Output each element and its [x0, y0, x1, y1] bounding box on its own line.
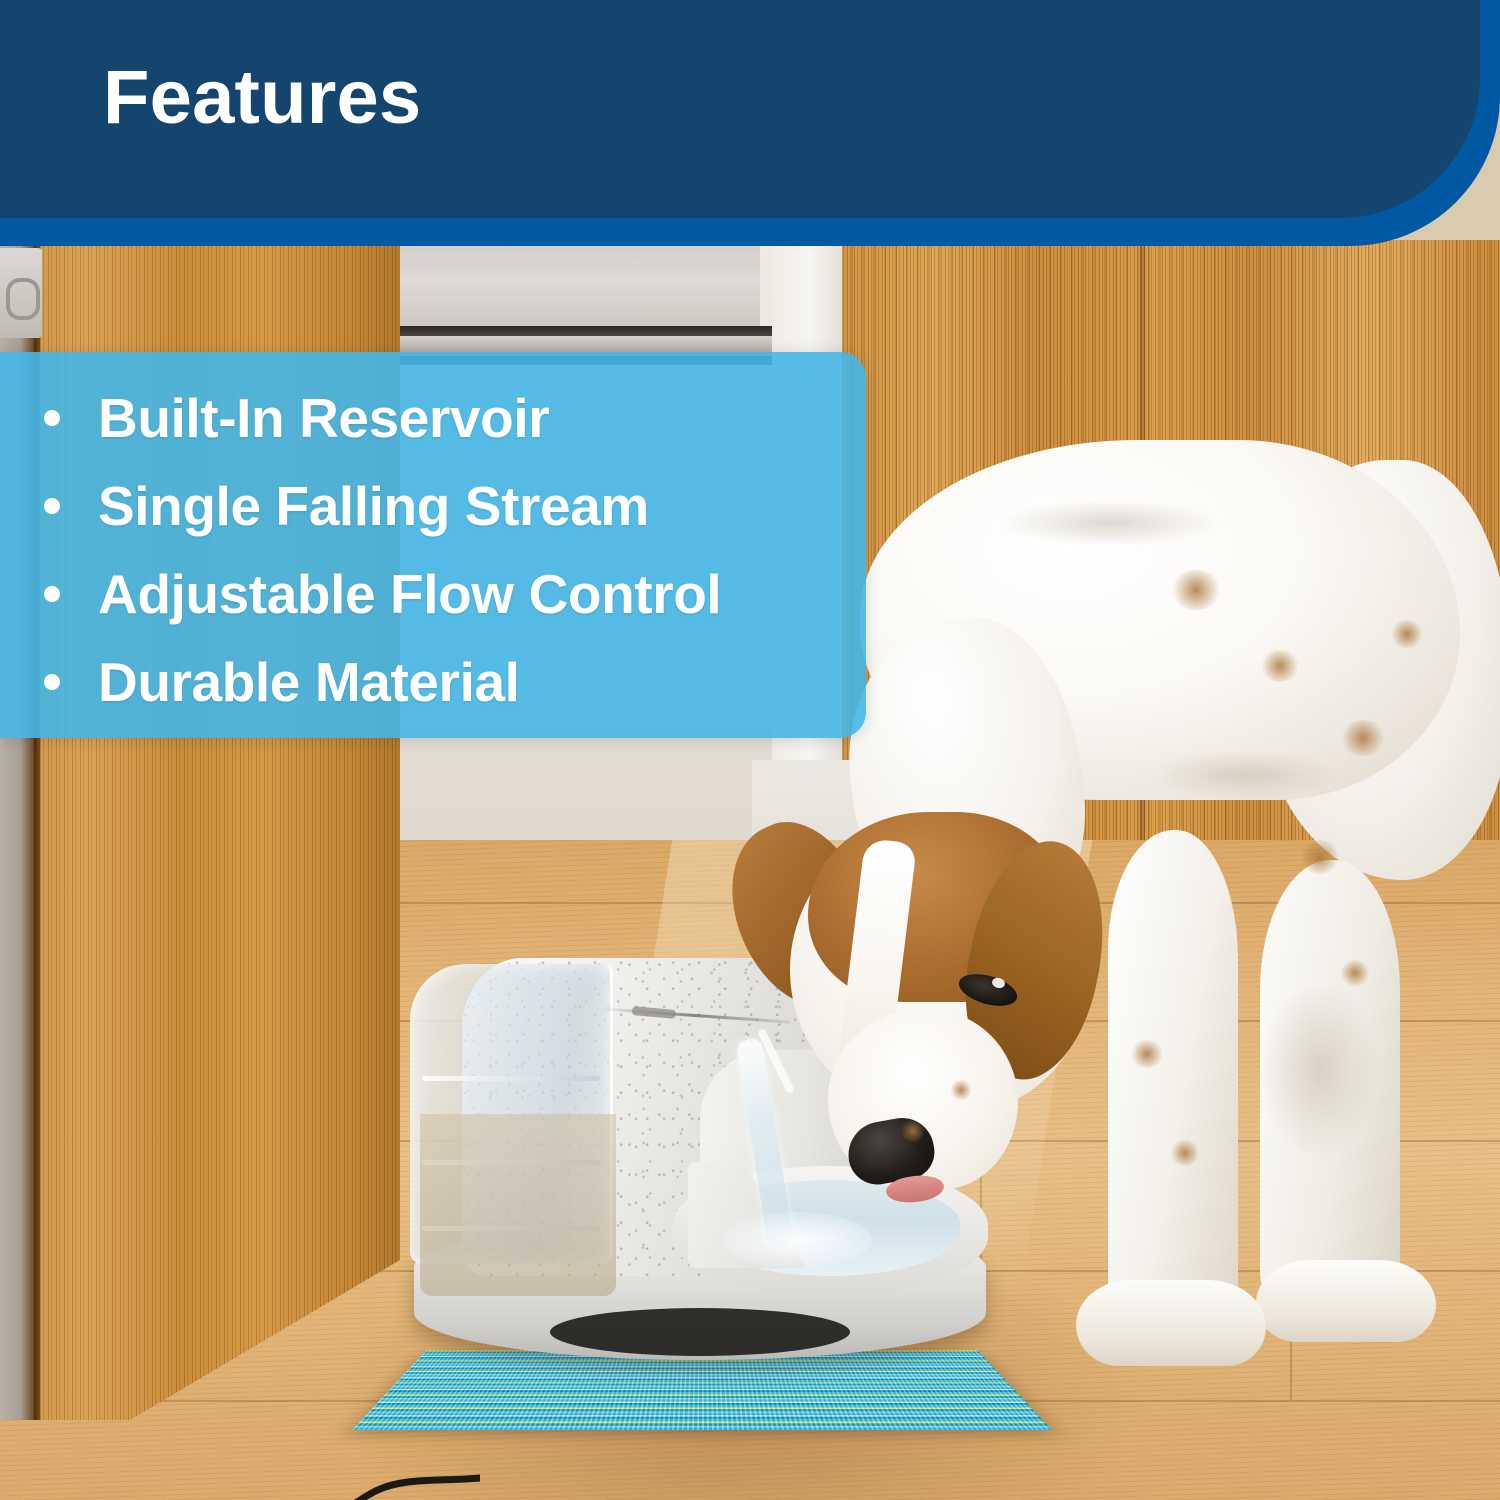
feature-label: Adjustable Flow Control — [98, 562, 721, 626]
product-feature-card: Features Built-In Reservoir Single Falli… — [0, 0, 1500, 1500]
bullet-icon — [44, 498, 60, 514]
bullet-icon — [44, 410, 60, 426]
bullet-icon — [44, 586, 60, 602]
features-panel: Built-In Reservoir Single Falling Stream… — [0, 352, 866, 738]
power-cord — [330, 1472, 480, 1500]
feature-item-3: Durable Material — [0, 638, 866, 726]
dog-front-leg — [1108, 830, 1238, 1340]
feature-label: Durable Material — [98, 650, 520, 714]
reservoir-water-level — [420, 1114, 616, 1296]
feature-item-1: Single Falling Stream — [0, 462, 866, 550]
water-reservoir — [410, 964, 613, 1264]
dishwasher-panel — [400, 240, 760, 338]
feature-label: Single Falling Stream — [98, 474, 649, 538]
feature-item-0: Built-In Reservoir — [0, 374, 866, 462]
appliance-handle-icon — [6, 278, 40, 320]
dog-back-paw — [1256, 1260, 1436, 1342]
dog-front-paw — [1076, 1280, 1266, 1366]
bullet-icon — [44, 674, 60, 690]
page-title: Features — [103, 60, 421, 136]
feature-label: Built-In Reservoir — [98, 386, 549, 450]
features-list: Built-In Reservoir Single Falling Stream… — [0, 352, 866, 726]
small-appliance — [0, 248, 42, 338]
dishwasher-handle — [400, 326, 772, 336]
feature-item-2: Adjustable Flow Control — [0, 550, 866, 638]
